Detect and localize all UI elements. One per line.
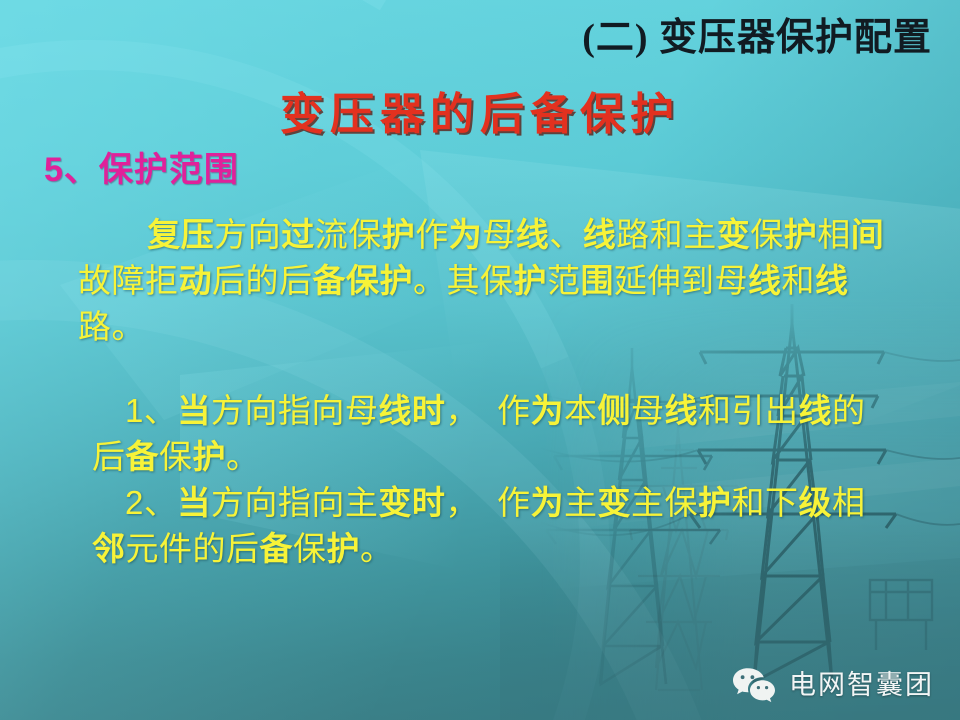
slide-title: 变压器的后备保护 [0,88,960,142]
slide-body: 复压方向过流保护作为母线、线路和主变保护相间故障拒动后的后备保护。其保护范围延伸… [78,212,888,572]
watermark: 电网智囊团 [731,666,934,704]
body-spacer [78,350,888,388]
section-heading: 5、保护范围 [44,148,239,192]
body-list-item-2: 2、当方向指向主变时，作为主变主保护和下级相邻元件的后备保护。 [92,480,888,572]
list-marker-1: 1、 [125,392,177,429]
body-list-item-1: 1、当方向指向母线时，作为本侧母线和引出线的后备保护。 [92,388,888,480]
wechat-icon [731,666,777,704]
body-paragraph: 复压方向过流保护作为母线、线路和主变保护相间故障拒动后的后备保护。其保护范围延伸… [78,212,888,350]
watermark-label: 电网智囊团 [789,669,934,701]
slide-canvas: (二) 变压器保护配置 变压器的后备保护 5、保护范围 复压方向过流保护作为母线… [0,0,960,720]
list-marker-2: 2、 [125,484,177,521]
slide-header: (二) 变压器保护配置 [0,14,932,62]
